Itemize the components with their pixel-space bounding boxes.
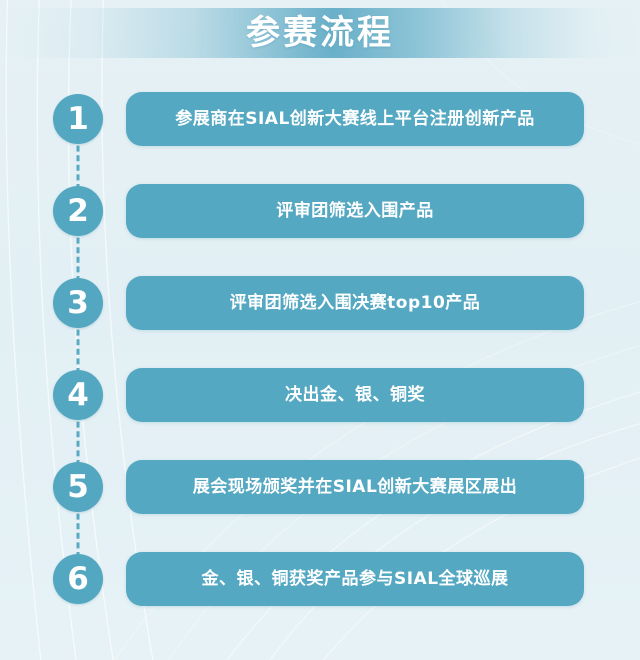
step-number-label: 5 <box>53 462 103 512</box>
step-pill[interactable]: 金、银、铜获奖产品参与SIAL全球巡展 <box>126 552 584 606</box>
flow-step: 1 参展商在SIAL创新大赛线上平台注册创新产品 <box>0 86 640 178</box>
step-pill[interactable]: 决出金、银、铜奖 <box>126 368 584 422</box>
step-number-label: 2 <box>53 186 103 236</box>
step-pill-label: 评审团筛选入围决赛top10产品 <box>126 276 584 330</box>
step-pill-label: 展会现场颁奖并在SIAL创新大赛展区展出 <box>126 460 584 514</box>
step-pill-label: 评审团筛选入围产品 <box>126 184 584 238</box>
step-number-badge: 4 <box>53 370 103 420</box>
flow-step: 3 评审团筛选入围决赛top10产品 <box>0 270 640 362</box>
step-number-badge: 6 <box>53 554 103 604</box>
flow-step: 6 金、银、铜获奖产品参与SIAL全球巡展 <box>0 546 640 638</box>
step-number-label: 3 <box>53 278 103 328</box>
step-number-badge: 2 <box>53 186 103 236</box>
step-pill[interactable]: 展会现场颁奖并在SIAL创新大赛展区展出 <box>126 460 584 514</box>
step-pill-label: 参展商在SIAL创新大赛线上平台注册创新产品 <box>126 92 584 146</box>
step-number-label: 1 <box>53 94 103 144</box>
step-pill[interactable]: 评审团筛选入围决赛top10产品 <box>126 276 584 330</box>
step-number-label: 6 <box>53 554 103 604</box>
step-number-badge: 1 <box>53 94 103 144</box>
step-number-badge: 3 <box>53 278 103 328</box>
flow-step: 2 评审团筛选入围产品 <box>0 178 640 270</box>
step-number-label: 4 <box>53 370 103 420</box>
step-pill-label: 金、银、铜获奖产品参与SIAL全球巡展 <box>126 552 584 606</box>
step-pill[interactable]: 参展商在SIAL创新大赛线上平台注册创新产品 <box>126 92 584 146</box>
participation-flow-infographic: 参赛流程 1 参展商在SIAL创新大赛线上平台注册创新产品 2 评审团筛选入围产… <box>0 0 640 660</box>
flow-step-list: 1 参展商在SIAL创新大赛线上平台注册创新产品 2 评审团筛选入围产品 3 评… <box>0 86 640 638</box>
step-number-badge: 5 <box>53 462 103 512</box>
flow-step: 4 决出金、银、铜奖 <box>0 362 640 454</box>
step-pill-label: 决出金、银、铜奖 <box>126 368 584 422</box>
page-title: 参赛流程 <box>0 6 640 60</box>
flow-step: 5 展会现场颁奖并在SIAL创新大赛展区展出 <box>0 454 640 546</box>
step-pill[interactable]: 评审团筛选入围产品 <box>126 184 584 238</box>
